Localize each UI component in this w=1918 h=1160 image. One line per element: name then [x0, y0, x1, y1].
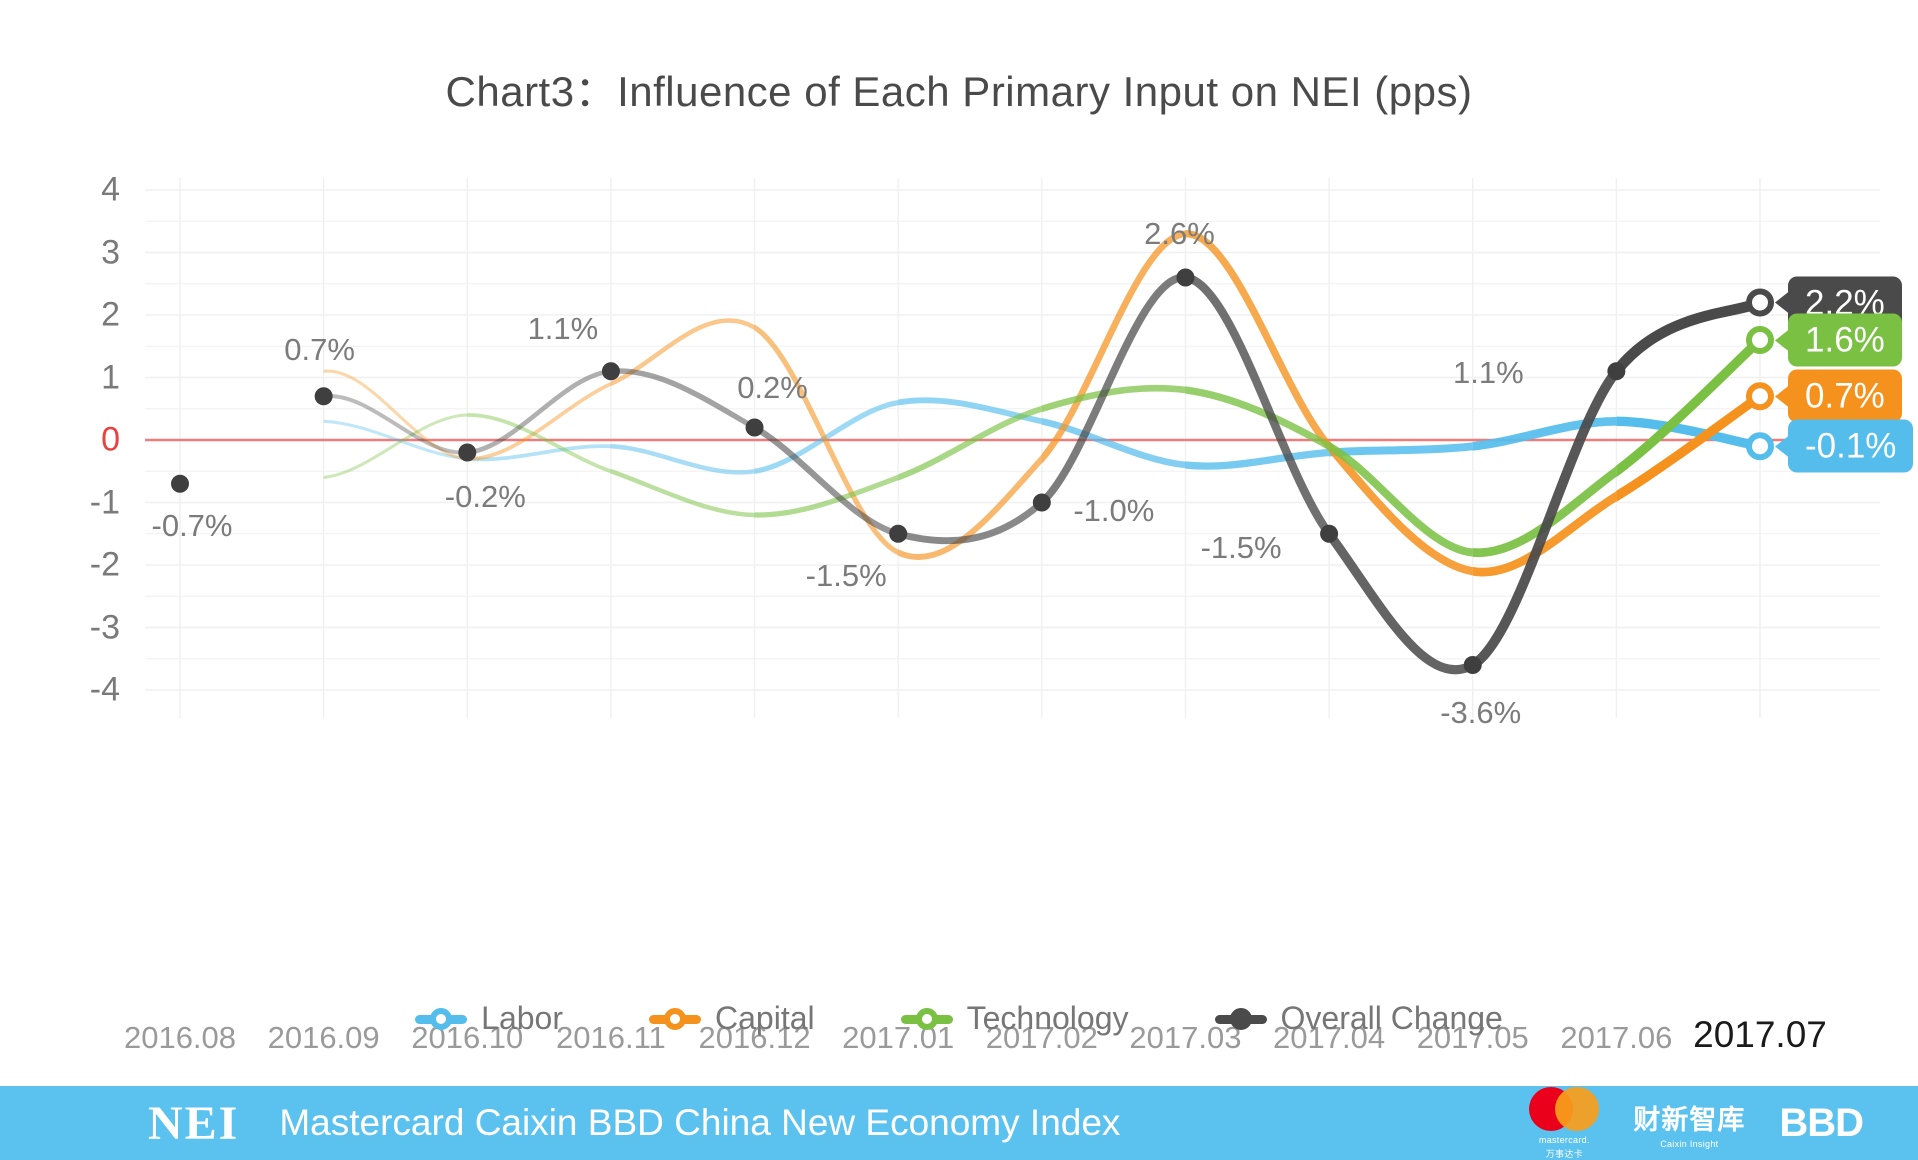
bbd-logo: BBD: [1779, 1101, 1863, 1146]
data-point-label: -1.0%: [1073, 493, 1154, 529]
y-axis-tick: 4: [50, 171, 120, 210]
legend-marker-icon: [649, 1008, 701, 1030]
y-axis-tick: -2: [50, 546, 120, 585]
data-point-label: 0.7%: [284, 332, 355, 368]
y-axis-tick: 1: [50, 358, 120, 397]
series-end-tag: 0.7%: [1788, 370, 1902, 423]
legend-item-label: Technology: [967, 1000, 1129, 1037]
series-end-tag-label: 1.6%: [1805, 321, 1885, 360]
legend-item-label: Capital: [715, 1000, 815, 1037]
data-point-label: -0.7%: [152, 508, 233, 544]
y-axis-tick: 0: [50, 421, 120, 460]
data-point-label: 0.2%: [737, 370, 808, 406]
series-end-tag-label: -0.1%: [1805, 427, 1896, 466]
legend-item-label: Overall Change: [1281, 1000, 1503, 1037]
nei-logo: NEI: [148, 1096, 239, 1151]
footer-logos: mastercard. 万事达卡 财新智库 Caixin Insight BBD: [1529, 1087, 1863, 1160]
page-title: Chart3：Influence of Each Primary Input o…: [0, 58, 1918, 119]
caixin-logo: 财新智库 Caixin Insight: [1633, 1098, 1745, 1149]
legend-item-overall-change[interactable]: Overall Change: [1215, 1000, 1503, 1037]
chart-plot-area: 43210-1-2-3-42016.082016.092016.102016.1…: [0, 130, 1918, 890]
data-point-label: 2.6%: [1144, 216, 1215, 252]
series-end-tag: -0.1%: [1788, 420, 1913, 473]
footer-caption: Mastercard Caixin BBD China New Economy …: [279, 1102, 1120, 1144]
legend-marker-icon: [415, 1008, 467, 1030]
legend-marker-icon: [901, 1008, 953, 1030]
data-point-label: -1.5%: [1201, 530, 1282, 566]
series-end-tag: 1.6%: [1788, 314, 1902, 367]
data-point-label: -1.5%: [806, 558, 887, 594]
caixin-logo-cn: 财新智库: [1633, 1098, 1745, 1137]
y-axis-tick: -1: [50, 483, 120, 522]
legend-item-label: Labor: [481, 1000, 563, 1037]
data-point-label: 1.1%: [1453, 355, 1524, 391]
legend-item-technology[interactable]: Technology: [901, 1000, 1129, 1037]
legend-marker-icon: [1215, 1008, 1267, 1030]
chart-legend: LaborCapitalTechnologyOverall Change: [0, 1000, 1918, 1037]
chart-svg: [0, 130, 1918, 890]
data-point-label: -0.2%: [445, 479, 526, 515]
legend-item-labor[interactable]: Labor: [415, 1000, 563, 1037]
y-axis-tick: 3: [50, 233, 120, 272]
footer-bar: NEI Mastercard Caixin BBD China New Econ…: [0, 1086, 1918, 1160]
mastercard-caption-cn: 万事达卡: [1546, 1147, 1583, 1160]
data-point-label: 1.1%: [528, 311, 599, 347]
bbd-logo-text: BBD: [1779, 1101, 1863, 1146]
legend-item-capital[interactable]: Capital: [649, 1000, 815, 1037]
y-axis-tick: -4: [50, 671, 120, 710]
mastercard-caption: mastercard.: [1539, 1135, 1590, 1145]
mastercard-logo: mastercard. 万事达卡: [1529, 1087, 1599, 1160]
caixin-logo-en: Caixin Insight: [1660, 1139, 1718, 1149]
mastercard-icon: [1529, 1087, 1599, 1133]
y-axis-tick: -3: [50, 608, 120, 647]
series-end-tag-label: 0.7%: [1805, 377, 1885, 416]
data-point-label: -3.6%: [1440, 695, 1521, 731]
y-axis-tick: 2: [50, 296, 120, 335]
